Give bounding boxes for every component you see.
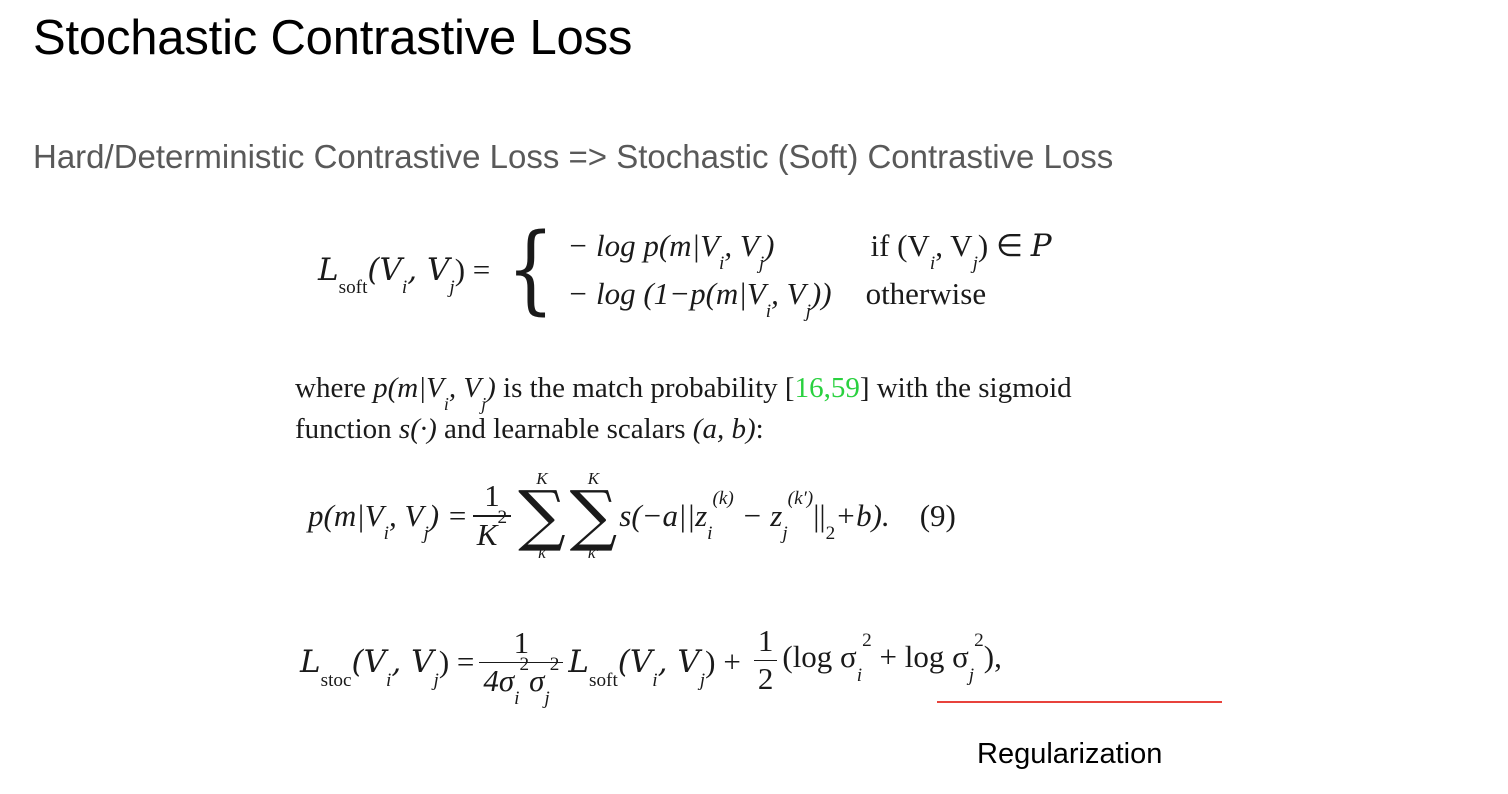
case-2-body-mid: , V [771,276,805,311]
prob-lhs-open: p(m|V [308,498,384,533]
z-sup-k-prime: (k′) [788,488,814,509]
four-sigma: 4σ [483,663,514,698]
citation-reference[interactable]: 16,59 [795,372,860,404]
sigma-sub-i: i [514,688,519,709]
case-2-body-end: )) [811,276,832,311]
stoc-equals: ) = [439,644,475,679]
prob-lhs-sub-j: j [423,523,428,544]
stoc-arg-open: (V [352,644,386,680]
equation-stochastic-loss: Lstoc(Vi, Vj) = 1 4σi2σj2 Lsoft(Vi, Vj) … [300,625,1002,700]
equals-sign: ) = [455,252,491,287]
sigmoid-symbol: s(·) [399,413,437,445]
cond-1-mid: , V [935,228,972,263]
case-2-body: − log (1−p(m|Vi, Vj)) [567,276,831,312]
case-1-body-mid: , V [724,228,758,263]
sigma-sub-i: i [857,665,862,686]
regularization-annotation-label: Regularization [977,738,1162,771]
slide-subtitle: Hard/Deterministic Contrastive Loss => S… [33,138,1113,176]
sum-lower-limit: k′ [588,544,599,561]
regularization-term: 1 2 (log σi2 + log σj2), [749,625,1002,700]
case-2-sub-j: j [806,301,811,322]
soft-sub-j: j [700,670,705,691]
soft-arg-mid: , V [658,644,700,680]
p-expression: p(m|Vi, Vj) [373,372,496,404]
reg-close-paren: ), [984,639,1002,674]
arg-j: j [449,277,454,298]
fraction-denominator: K2 [473,519,511,552]
prob-lhs-mid: , V [389,498,423,533]
log-sigma-sum: (log σi2 + log σj2), [782,639,1001,674]
cond-1-sub-i: i [930,253,935,274]
p-expr-mid: , V [449,372,481,404]
plus-operator: + [723,644,740,680]
soft-arg-open: (V [618,644,652,680]
script-l-symbol: L [318,252,339,288]
sigma-sup-2: 2 [974,630,984,651]
regularization-underline [937,701,1222,703]
equation-soft-lhs: Lsoft(Vi, Vj) = [318,252,490,288]
cases-block: − log p(m|Vi, Vj) if (Vi, Vj) ∈ P − log … [567,228,1051,312]
arg-i: i [402,277,407,298]
fraction-numerator: 1 [754,625,778,658]
stoc-sub-j: j [433,670,438,691]
p-expr-sub-i: i [444,394,449,414]
scalars-lead-text: and learnable scalars [437,413,693,445]
soft-arg-close: ) [705,644,715,679]
sum-lower-limit: k [538,544,546,561]
minus-z: − z [734,498,782,533]
cond-1-sub-j: j [973,253,978,274]
plus-b-close: +b). [835,498,890,533]
case-2-sub-i: i [766,301,771,322]
k-symbol: K [477,517,498,552]
soft-subscript: soft [589,670,618,691]
sigmoid-open: s(−a||z [619,498,707,533]
case-1-body-end: ) [764,228,774,263]
sigma-summation-icon: ∑ [570,487,618,544]
norm-order: 2 [826,523,836,544]
case-1-sub-i: i [719,253,724,274]
norm-bars: || [813,498,825,533]
sigma-summation-icon: ∑ [518,487,566,544]
arg-sep: , V [407,252,449,288]
script-l-symbol: L [568,644,589,680]
z-sub-i: i [707,523,712,544]
cond-1-pre: if (V [870,228,929,263]
prob-lhs-sub-i: i [384,523,389,544]
sigma-sup-2: 2 [862,630,872,651]
case-2-condition: otherwise [866,276,987,312]
arg-open: (V [367,252,401,288]
left-curly-brace-icon: { [507,235,555,304]
where-keyword: where [295,372,373,404]
positive-set-symbol: P [1031,228,1052,264]
log-sigma-i-open: (log σ [782,639,856,674]
z-sub-j: j [782,523,787,544]
case-1-body: − log p(m|Vi, Vj) [567,228,774,264]
sigma-sup-2: 2 [520,654,530,675]
equation-soft-loss: Lsoft(Vi, Vj) = { − log p(m|Vi, Vj) if (… [318,228,1052,312]
p-expr-sub-j: j [481,394,486,414]
stoc-lhs: Lstoc(Vi, Vj) = [300,644,474,680]
match-probability-text: is the match probability [ [496,372,795,404]
p-expr-open: p(m|V [373,372,444,404]
stoc-subscript: stoc [321,670,352,691]
case-2-body-open: − log (1−p(m|V [567,276,765,311]
learnable-scalars: (a, b) [693,413,756,445]
fraction-denominator: 2 [754,663,778,696]
z-sup-k: (k) [713,488,734,509]
case-1-condition: if (Vi, Vj) ∈ P [870,228,1051,264]
soft-loss-term: Lsoft(Vi, Vj) [568,644,715,680]
equation-match-probability: p(m|Vi, Vj) = 1 K2 K ∑ k K ∑ k′ s(−a||zi… [308,470,956,561]
colon: : [756,413,764,445]
case-1-sub-j: j [759,253,764,274]
prob-lhs: p(m|Vi, Vj) = [308,498,468,534]
sigma-sup-2: 2 [550,654,560,675]
page-title: Stochastic Contrastive Loss [33,12,632,65]
p-expr-close: ) [486,372,496,404]
case-row: − log (1−p(m|Vi, Vj)) otherwise [567,276,1051,312]
cond-1-in-symbol: ) ∈ [978,228,1031,263]
sigma-sub-j: j [969,665,974,686]
summation-k: K ∑ k [518,470,566,561]
stoc-arg-mid: , V [391,644,433,680]
soft-subscript: soft [339,277,368,298]
where-description: where p(m|Vi, Vj) is the match probabili… [295,368,1155,450]
sigma-fraction: 1 4σi2σj2 [479,627,563,698]
sigmoid-body: s(−a||zi(k) − zj(k′)||2+b). [619,498,889,534]
one-half-fraction: 1 2 [754,625,778,696]
k-exponent: 2 [497,507,507,528]
case-1-body-open: − log p(m|V [567,228,719,263]
equation-number: (9) [920,498,956,534]
fraction-denominator: 4σi2σj2 [479,665,563,698]
one-over-k-squared-fraction: 1 K2 [473,480,511,551]
prob-lhs-close: ) = [429,498,468,533]
case-row: − log p(m|Vi, Vj) if (Vi, Vj) ∈ P [567,228,1051,264]
stoc-sub-i: i [386,670,391,691]
log-sigma-j: + log σ [872,639,969,674]
sigma-j: σ [529,663,544,698]
soft-sub-i: i [652,670,657,691]
summation-k-prime: K ∑ k′ [570,470,618,561]
sigma-sub-j: j [544,688,549,709]
script-l-symbol: L [300,644,321,680]
